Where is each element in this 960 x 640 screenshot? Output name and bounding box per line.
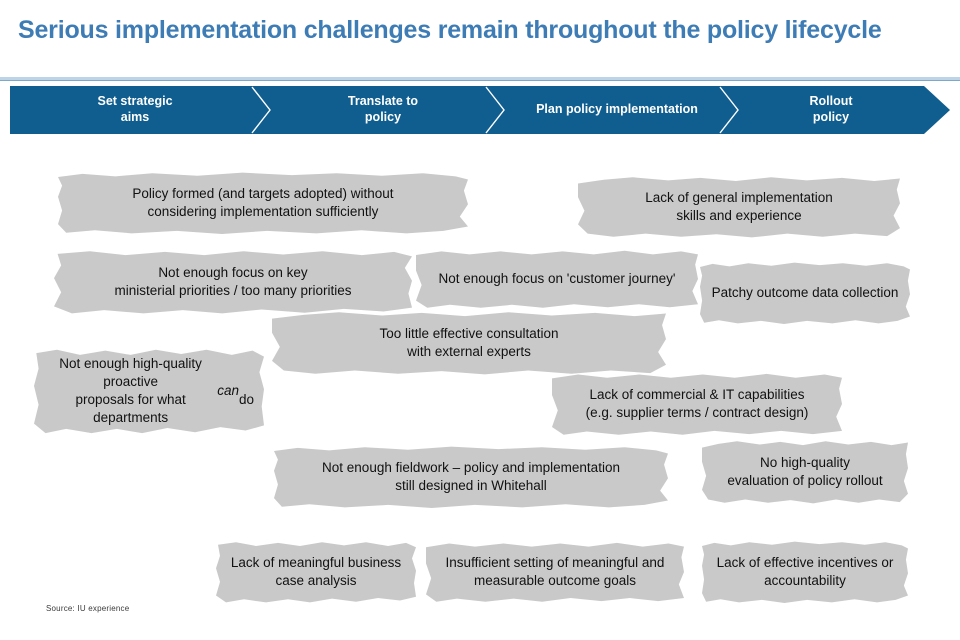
stage-item-rollout-policy[interactable]: Rollout policy (736, 86, 926, 134)
challenge-note-insufficient-setting-of-outcome-goals[interactable]: Insufficient setting of meaningful and m… (426, 541, 684, 603)
stage-item-translate-to-policy[interactable]: Translate to policy (268, 86, 498, 134)
challenge-note-policy-formed-without-considering-implementation[interactable]: Policy formed (and targets adopted) with… (58, 172, 468, 234)
stage-item-set-strategic-aims[interactable]: Set strategic aims (10, 86, 260, 134)
challenge-note-no-high-quality-evaluation-of-policy-rollout[interactable]: No high-quality evaluation of policy rol… (702, 440, 908, 504)
challenge-note-lack-of-general-implementation-skills[interactable]: Lack of general implementation skills an… (578, 176, 900, 238)
challenge-note-lack-of-meaningful-business-case-analysis[interactable]: Lack of meaningful business case analysi… (216, 541, 416, 603)
policy-lifecycle-stage-bar: Set strategic aims Translate to policy P… (10, 86, 950, 134)
stage-item-plan-policy-implementation[interactable]: Plan policy implementation (502, 86, 732, 134)
challenge-note-lack-of-commercial-and-it-capabilities[interactable]: Lack of commercial & IT capabilities (e.… (552, 372, 842, 436)
note-text-run-1: Not enough high-quality proactive propos… (44, 355, 217, 428)
page-title: Serious implementation challenges remain… (18, 16, 882, 45)
challenge-note-not-enough-focus-on-customer-journey[interactable]: Not enough focus on 'customer journey' (416, 249, 698, 309)
challenge-note-lack-of-effective-incentives-or-accountability[interactable]: Lack of effective incentives or accounta… (702, 541, 908, 603)
source-note: Source: IU experience (46, 604, 129, 613)
note-text-emphasis-can: can (217, 382, 239, 400)
challenge-note-not-enough-focus-on-key-ministerial-priorities[interactable]: Not enough focus on key ministerial prio… (54, 250, 412, 314)
challenge-note-patchy-outcome-data-collection[interactable]: Patchy outcome data collection (700, 262, 910, 324)
challenge-note-not-enough-high-quality-proactive-proposals[interactable]: Not enough high-quality proactive propos… (34, 348, 264, 434)
title-divider-rule-dark (0, 80, 960, 81)
note-text-run-2: do (239, 373, 254, 409)
challenge-note-too-little-effective-consultation[interactable]: Too little effective consultation with e… (272, 311, 666, 375)
challenge-note-not-enough-fieldwork[interactable]: Not enough fieldwork – policy and implem… (274, 446, 668, 508)
